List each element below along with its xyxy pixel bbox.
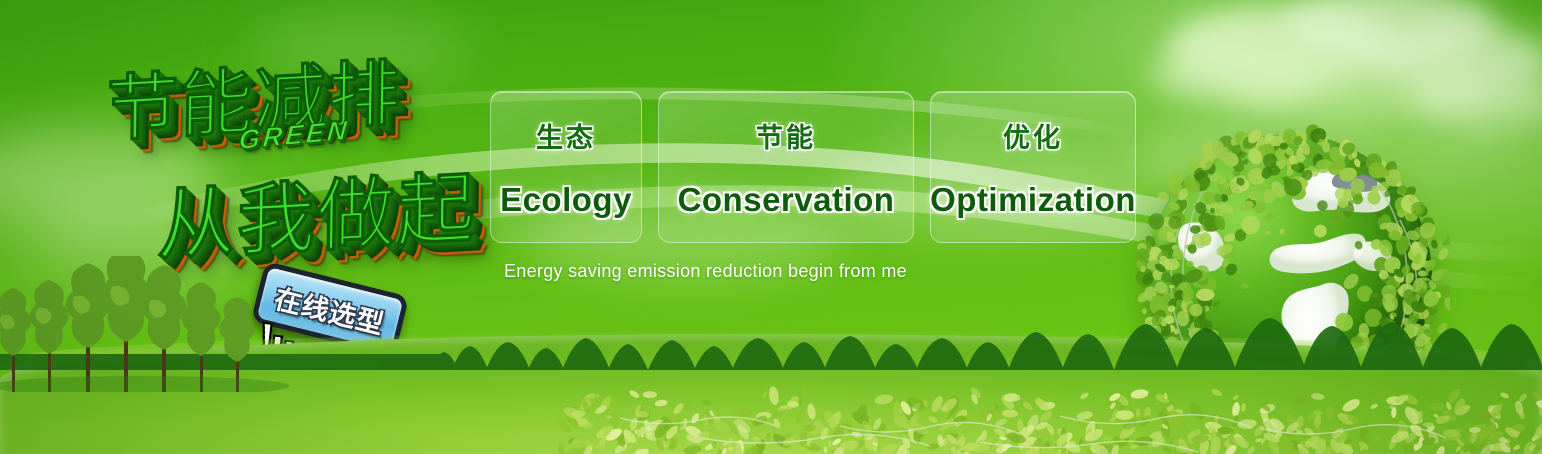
cloud-icon [1372, 26, 1542, 96]
cloud-icon [1230, 62, 1490, 120]
feature-card-cn-label: 生态 [536, 116, 596, 155]
cloud-icon [1168, 4, 1398, 90]
feature-card-ecology[interactable]: 生态 Ecology [490, 91, 642, 243]
cloud-icon [1130, 120, 1370, 206]
cloud-icon [1150, 44, 1320, 106]
feature-card-cn-label: 优化 [1003, 116, 1063, 155]
feature-card-en-label: Optimization [930, 181, 1136, 219]
feature-card-en-label: Ecology [500, 181, 632, 219]
cloud-icon [1416, 74, 1542, 126]
headline-bottom-cn: 从我做起 [156, 146, 477, 276]
feature-card-cn-label: 节能 [756, 116, 816, 155]
feature-card-en-label: Conservation [678, 181, 895, 219]
headline-3d-text: 节能减排 GREEN 从我做起 [89, 23, 502, 295]
feature-card-conservation[interactable]: 节能 Conservation [658, 91, 914, 243]
cloud-icon [250, 14, 470, 84]
online-selection-button-label: 在线选型 [271, 277, 389, 342]
cloud-icon [0, 130, 220, 226]
headline-green-en: GREEN [238, 115, 351, 156]
tagline-text: Energy saving emission reduction begin f… [504, 261, 907, 282]
grass-field-icon [0, 334, 1542, 454]
eco-banner: 节能减排 GREEN 从我做起 在线选型 生态 Ecology 节能 Conse… [0, 0, 1542, 454]
headline-top-cn: 节能减排 [106, 34, 403, 156]
cloud-icon [1286, 0, 1496, 64]
cloud-icon [30, 200, 260, 280]
feature-card-list: 生态 Ecology 节能 Conservation 优化 Optimizati… [490, 91, 1136, 243]
feature-card-optimization[interactable]: 优化 Optimization [930, 91, 1136, 243]
